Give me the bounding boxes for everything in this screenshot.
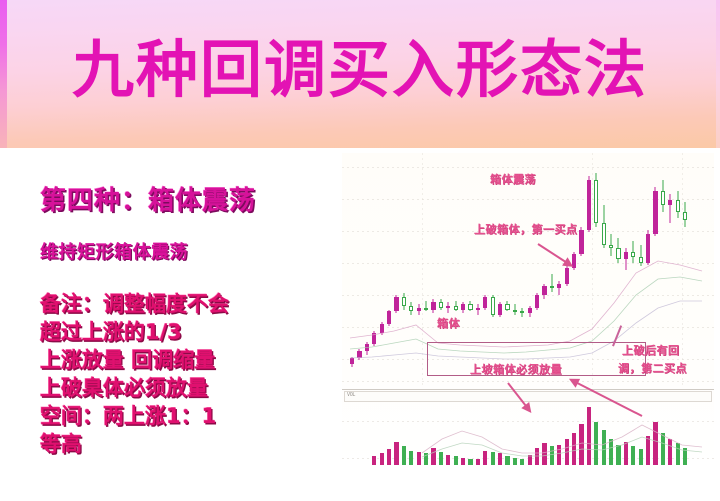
note-line: 空间：两上涨1：1 [40,402,340,430]
page-title: 九种回调买入形态法 [0,30,720,110]
note-line: 等高 [40,430,340,458]
annotation-volume-required: 上坡箱体必须放量 [470,361,562,377]
annotation-box-oscillation: 箱体震荡 [490,171,536,187]
header-banner: 九种回调买入形态法 [0,0,720,148]
volume-moving-average [342,153,714,468]
section-heading: 第四种：箱体震荡 [40,184,340,218]
note-line: 备注：调整幅度不会 [40,290,340,318]
section-subheading: 维持矩形箱体震荡 [40,240,340,266]
candlestick-chart: VOL 箱体震荡 上破箱体，第一买点 箱体 [342,153,714,468]
note-line: 超过上涨的1/3 [40,318,340,346]
annotation-second-buy-line2: 调，第二买点 [618,360,687,376]
notes-block: 备注：调整幅度不会 超过上涨的1/3 上涨放量 回调缩量 上破臬体必须放量 空间… [40,290,340,458]
slide-page: 九种回调买入形态法 第四种：箱体震荡 维持矩形箱体震荡 备注：调整幅度不会 超过… [0,0,720,501]
note-line: 上破臬体必须放量 [40,374,340,402]
annotation-second-buy-line1: 上破后有回 [622,342,680,358]
annotation-breakout-first-buy: 上破箱体，第一买点 [474,221,578,237]
note-line: 上涨放量 回调缩量 [40,346,340,374]
slide-body: 第四种：箱体震荡 维持矩形箱体震荡 备注：调整幅度不会 超过上涨的1/3 上涨放… [0,148,720,501]
left-text-column: 第四种：箱体震荡 维持矩形箱体震荡 备注：调整幅度不会 超过上涨的1/3 上涨放… [40,184,340,458]
annotation-box-label: 箱体 [437,315,460,331]
